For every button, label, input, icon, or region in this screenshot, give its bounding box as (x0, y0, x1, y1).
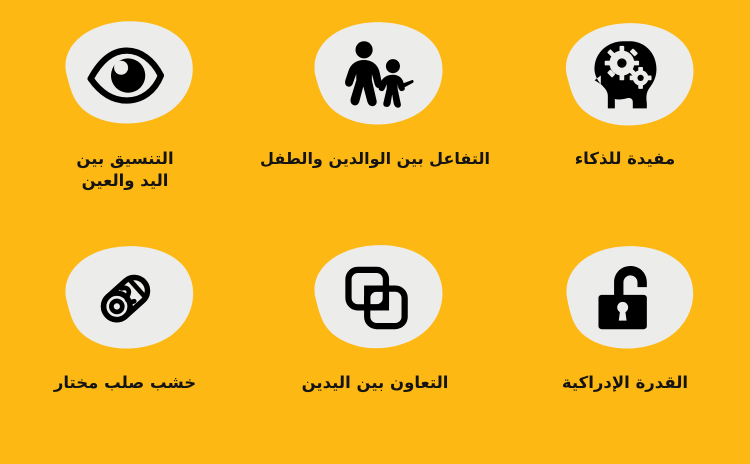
feature-card-hand-eye[interactable]: التنسيق بين اليد والعين (0, 0, 250, 232)
feature-label: خشب صلب مختار (30, 372, 220, 394)
parent-child-icon (336, 35, 414, 113)
feature-card-hardwood[interactable]: خشب صلب مختار (0, 232, 250, 464)
icon-blob (301, 242, 449, 354)
feature-card-hands-cooperation[interactable]: التعاون بين اليدين (250, 232, 500, 464)
icon-blob (301, 18, 449, 130)
brain-gears-icon (586, 35, 664, 113)
open-padlock-icon (586, 259, 664, 337)
feature-label: التنسيق بين اليد والعين (60, 148, 190, 192)
feature-label: القدرة الإدراكية (525, 372, 725, 394)
feature-card-cognitive[interactable]: القدرة الإدراكية (500, 232, 750, 464)
interlocking-squares-icon (336, 259, 414, 337)
feature-label: التفاعل بين الوالدين والطفل (258, 148, 493, 169)
icon-blob (551, 18, 699, 130)
eye-icon (86, 35, 164, 113)
wood-log-icon (86, 259, 164, 337)
feature-label: مفيدة للذكاء (525, 148, 725, 170)
icon-blob (51, 18, 199, 130)
feature-label: التعاون بين اليدين (275, 372, 475, 394)
feature-grid-poster: مفيدة للذكاء (0, 0, 750, 464)
feature-grid: مفيدة للذكاء (0, 0, 750, 464)
feature-card-parent-child[interactable]: التفاعل بين الوالدين والطفل (250, 0, 500, 232)
icon-blob (551, 242, 699, 354)
icon-blob (51, 242, 199, 354)
feature-card-intelligence[interactable]: مفيدة للذكاء (500, 0, 750, 232)
